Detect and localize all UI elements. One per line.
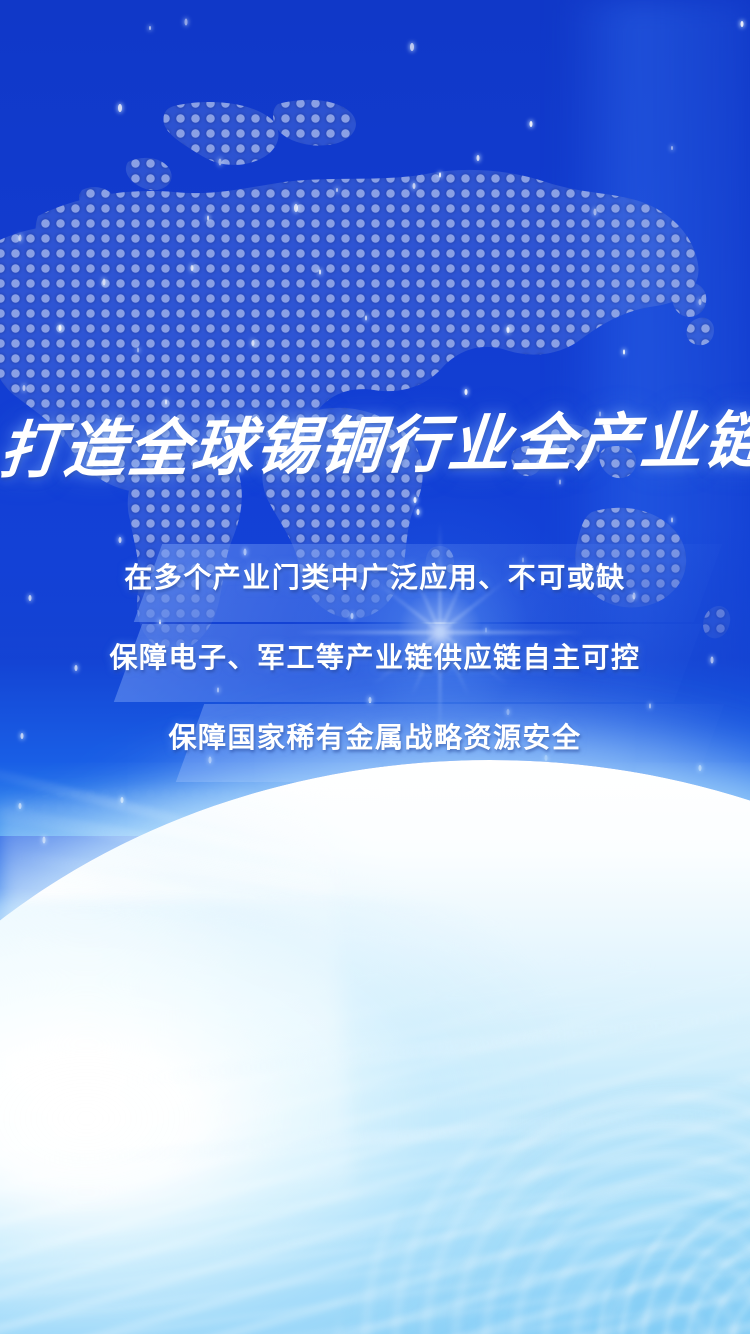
subtitle-line-1: 在多个产业门类中广泛应用、不可或缺 xyxy=(0,564,750,592)
page-title: 打造全球锡铜行业全产业链链主 xyxy=(0,411,750,483)
poster-canvas: 打造全球锡铜行业全产业链链主 在多个产业门类中广泛应用、不可或缺 保障电子、军工… xyxy=(0,0,750,1334)
subtitle-line-2: 保障电子、军工等产业链供应链自主可控 xyxy=(0,644,750,672)
subtitle-line-3: 保障国家稀有金属战略资源安全 xyxy=(0,724,750,752)
